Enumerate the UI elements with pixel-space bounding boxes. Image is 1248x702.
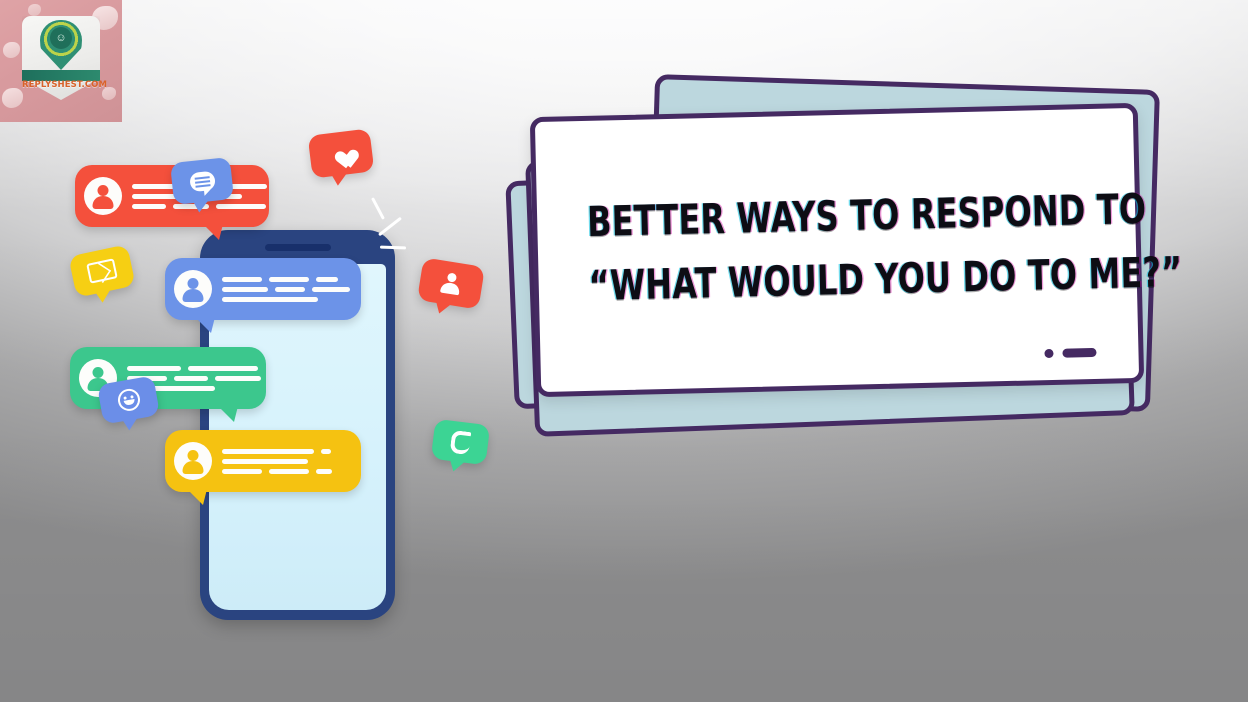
pin-inner-glyph: ☺	[50, 27, 72, 49]
heart-icon	[329, 143, 352, 164]
person-avatar	[84, 177, 122, 215]
brand-logo-text: REPLYSHEST.COM	[22, 80, 100, 90]
decor-petal	[3, 42, 20, 58]
badge-heart-icon	[308, 128, 375, 178]
brand-logo-badge[interactable]: ☺ REPLYSHEST.COM	[0, 0, 122, 122]
dash-mark	[1062, 348, 1096, 358]
bubble-tail	[195, 317, 215, 333]
decor-petal	[28, 4, 41, 16]
bubble-tail	[218, 406, 238, 422]
sparkle-lines-icon	[360, 205, 420, 255]
phone-handset-icon	[450, 429, 472, 454]
chat-illustration	[60, 110, 520, 640]
badge-mail-icon	[68, 244, 135, 298]
title-line-2: “WHAT WOULD YOU DO TO ME?”	[588, 244, 1088, 319]
bubble-tail	[203, 224, 223, 240]
decor-petal	[2, 88, 23, 108]
person-avatar	[174, 270, 212, 308]
title-card-stack: BETTER WAYS TO RESPOND TO “WHAT WOULD YO…	[505, 70, 1165, 445]
person-avatar	[174, 442, 212, 480]
message-lines	[212, 449, 361, 474]
badge-call-icon	[431, 419, 490, 465]
chat-bubble-yellow	[165, 430, 361, 492]
badge-smile-icon	[97, 375, 160, 424]
title-card-front: BETTER WAYS TO RESPOND TO “WHAT WOULD YO…	[530, 103, 1144, 397]
dot-mark	[1044, 349, 1053, 358]
chat-bubble-blue	[165, 258, 361, 320]
chat-bubble-icon	[189, 170, 216, 192]
badge-person-icon	[417, 257, 485, 309]
envelope-icon	[86, 258, 118, 283]
badge-chat-icon	[170, 157, 234, 205]
person-icon	[438, 271, 463, 295]
bubble-tail	[187, 489, 207, 505]
message-lines	[212, 277, 362, 302]
phone-speaker-bar	[265, 244, 331, 251]
card-corner-mark	[1044, 348, 1096, 358]
title-line-1: BETTER WAYS TO RESPOND TO	[586, 181, 1086, 256]
slide-canvas: ☺ REPLYSHEST.COM	[0, 0, 1248, 702]
smiley-face-icon	[116, 387, 141, 412]
